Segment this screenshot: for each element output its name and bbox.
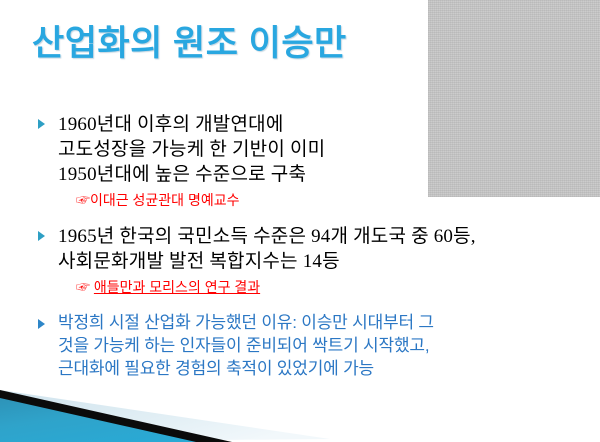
- triangle-bullet-icon: [38, 119, 45, 129]
- sub-note-text: 애들만과 모리스의 연구 결과: [94, 279, 260, 295]
- list-item: 1965년 한국의 국민소득 수준은 94개 개도국 중 60등, 사회문화개발…: [0, 224, 600, 297]
- presentation-slide: 산업화의 원조 이승만 1960년대 이후의 개발연대에 고도성장을 가능케 한…: [0, 0, 600, 442]
- triangle-bullet-icon: [38, 231, 45, 241]
- list-item: 박정희 시절 산업화 가능했던 이유: 이승만 시대부터 그 것을 가능케 하는…: [0, 311, 600, 380]
- page-title: 산업화의 원조 이승만: [32, 22, 422, 66]
- pointing-hand-icon: ☞: [76, 192, 90, 208]
- sub-note: ☞이대근 성균관대 명예교수: [58, 190, 600, 210]
- bullet-text: 박정희 시절 산업화 가능했던 이유: 이승만 시대부터 그 것을 가능케 하는…: [58, 311, 600, 380]
- triangle-bullet-icon: [38, 319, 45, 329]
- light-wedge-shape: [0, 390, 330, 442]
- list-item: 1960년대 이후의 개발연대에 고도성장을 가능케 한 기반이 이미 1950…: [0, 112, 600, 210]
- teal-wedge-shape: [0, 398, 196, 442]
- bullet-text: 1960년대 이후의 개발연대에 고도성장을 가능케 한 기반이 이미 1950…: [58, 112, 600, 187]
- bullet-list: 1960년대 이후의 개발연대에 고도성장을 가능케 한 기반이 이미 1950…: [0, 112, 600, 386]
- bottom-decoration: [0, 382, 600, 442]
- pointing-hand-icon: ☞: [76, 279, 90, 295]
- dark-stripe-shape: [0, 390, 232, 442]
- bullet-text: 1965년 한국의 국민소득 수준은 94개 개도국 중 60등, 사회문화개발…: [58, 224, 600, 274]
- sub-note: ☞ 애들만과 모리스의 연구 결과: [58, 277, 600, 297]
- sub-note-text: 이대근 성균관대 명예교수: [90, 192, 239, 208]
